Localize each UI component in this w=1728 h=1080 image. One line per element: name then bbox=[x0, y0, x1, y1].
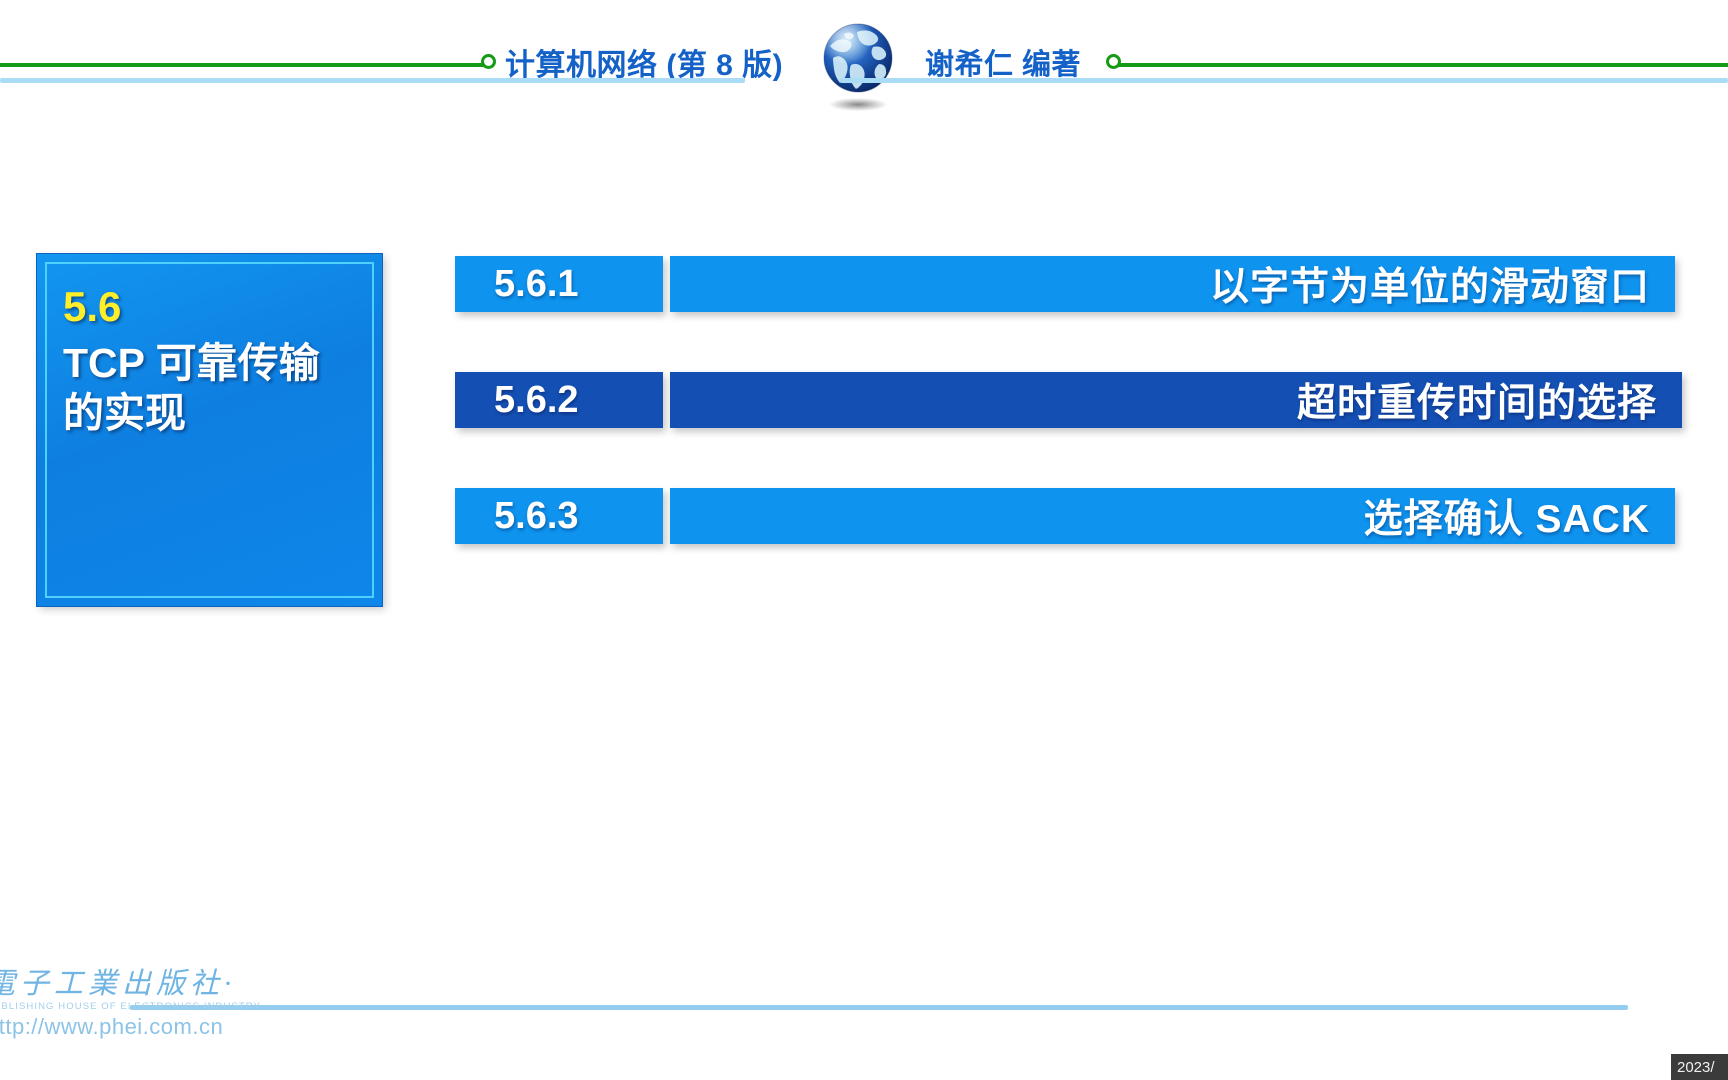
subsection-title-1: 以字节为单位的滑动窗口 bbox=[670, 256, 1675, 312]
subsection-number-2: 5.6.2 bbox=[455, 372, 663, 428]
subsection-number-1: 5.6.1 bbox=[455, 256, 663, 312]
subsection-number-3: 5.6.3 bbox=[455, 488, 663, 544]
slide-header: 计算机网络 (第 8 版) bbox=[0, 0, 1728, 135]
globe-icon bbox=[817, 18, 899, 118]
section-number: 5.6 bbox=[63, 286, 121, 328]
globe-shadow bbox=[829, 98, 887, 111]
header-blue-line-left bbox=[0, 78, 745, 83]
footer-divider-line bbox=[130, 1005, 1628, 1010]
subsection-title-2: 超时重传时间的选择 bbox=[670, 372, 1682, 428]
book-author: 谢希仁 编著 bbox=[925, 41, 1081, 83]
subsection-list: 5.6.1 以字节为单位的滑动窗口 5.6.2 超时重传时间的选择 5.6.3 … bbox=[455, 254, 1675, 594]
globe-svg bbox=[817, 18, 899, 100]
header-green-line-left bbox=[0, 63, 485, 67]
publisher-url: http://www.phei.com.cn bbox=[0, 1014, 223, 1040]
date-badge: 2023/ bbox=[1671, 1054, 1728, 1080]
publisher-name-en: PUBLISHING HOUSE OF ELECTRONICS INDUSTRY bbox=[0, 1001, 261, 1012]
header-green-line-right bbox=[1118, 63, 1728, 67]
publisher-name-cn: 電子工業出版社· bbox=[0, 960, 236, 1002]
header-blue-line-right bbox=[840, 78, 1728, 83]
publisher-logo: 電子工業出版社· PUBLISHING HOUSE OF ELECTRONICS… bbox=[0, 960, 172, 1060]
section-card: 5.6 TCP 可靠传输的实现 bbox=[37, 254, 382, 606]
section-title: TCP 可靠传输的实现 bbox=[63, 338, 343, 438]
subsection-title-3: 选择确认 SACK bbox=[670, 488, 1675, 544]
header-circle-left-icon bbox=[481, 54, 496, 69]
